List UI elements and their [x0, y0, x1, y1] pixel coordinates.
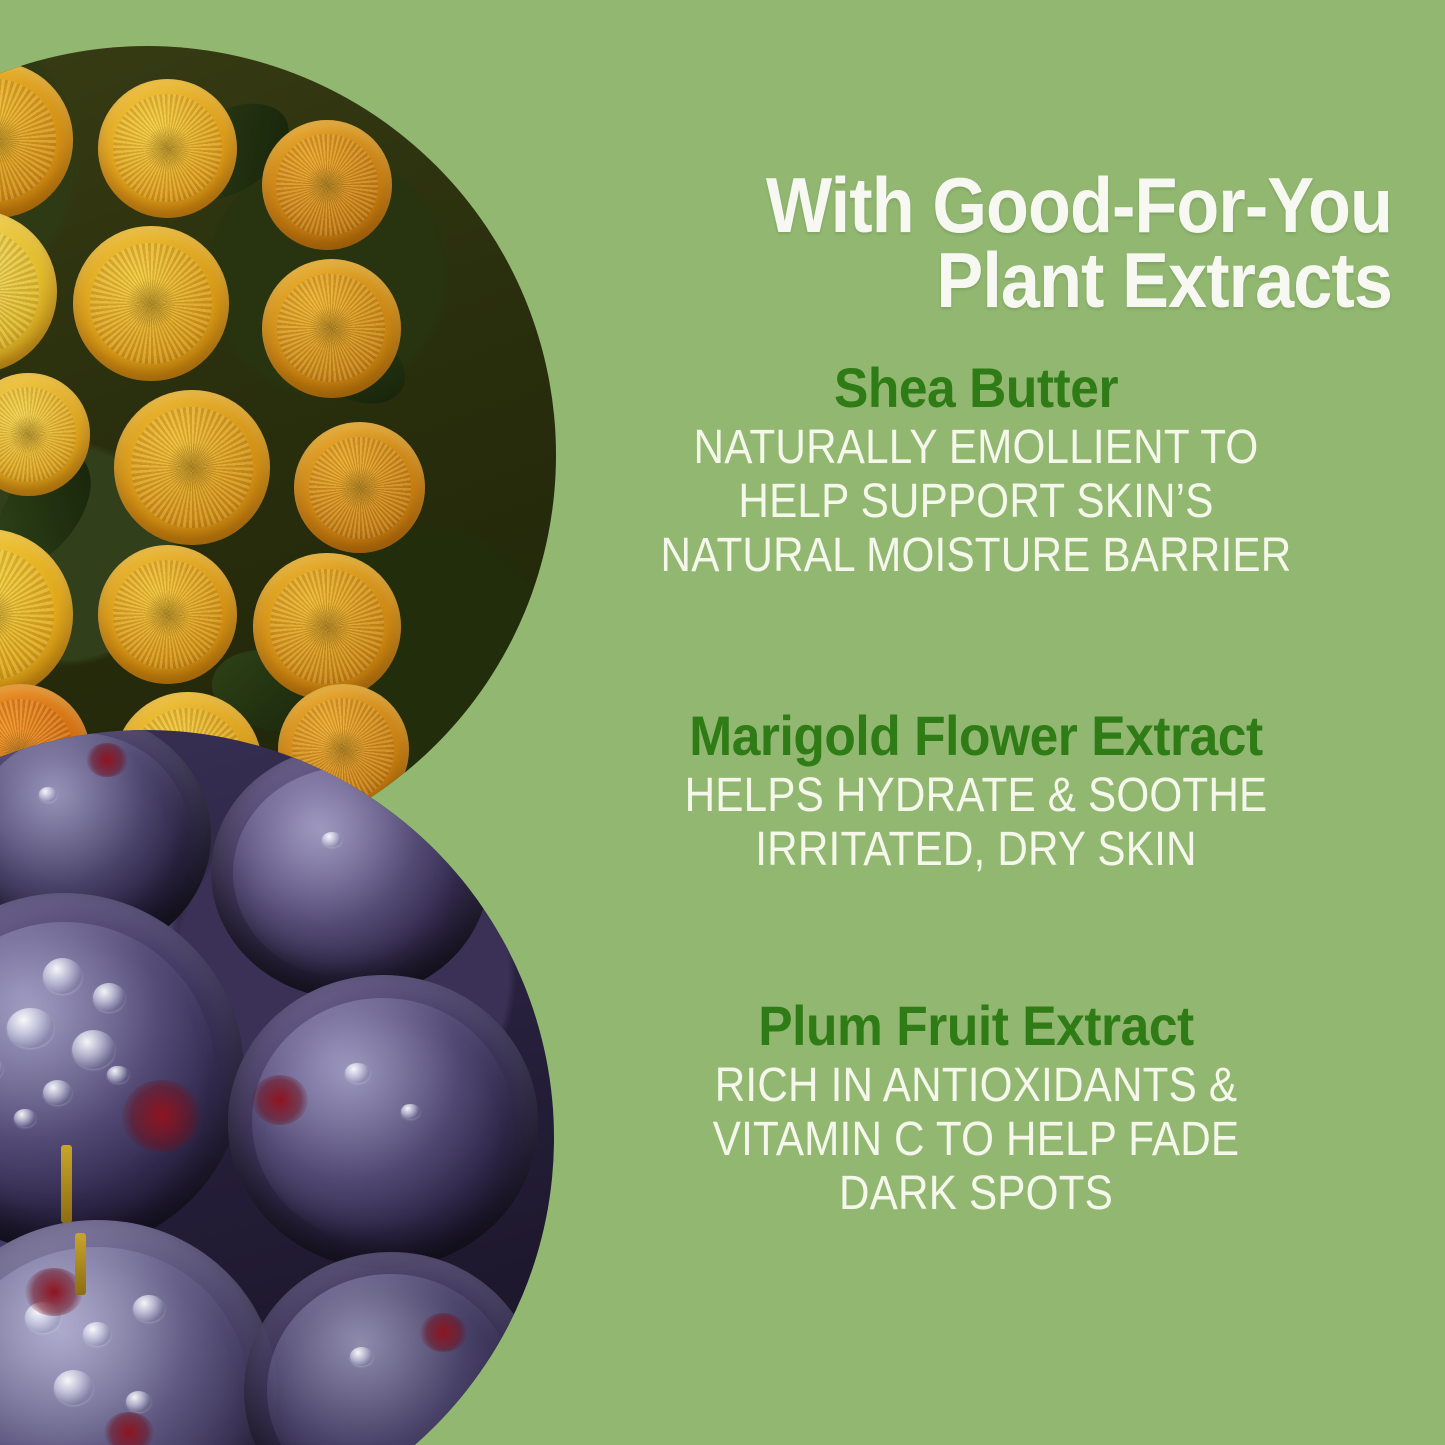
- ingredient-name: Marigold Flower Extract: [593, 706, 1358, 765]
- headline-line-1: With Good-For-You: [643, 168, 1392, 243]
- ingredient-text-column: With Good-For-You Plant Extracts Shea Bu…: [560, 0, 1392, 1445]
- plum-photo-content: [0, 730, 554, 1445]
- ingredient-description-line: HELP SUPPORT SKIN’S: [610, 475, 1342, 529]
- ingredient-description-line: IRRITATED, DRY SKIN: [610, 823, 1342, 877]
- ingredient-description: NATURALLY EMOLLIENT TO HELP SUPPORT SKIN…: [610, 421, 1342, 582]
- ingredient-description: RICH IN ANTIOXIDANTS & VITAMIN C TO HELP…: [610, 1059, 1342, 1220]
- ingredient-description-line: NATURAL MOISTURE BARRIER: [610, 529, 1342, 583]
- ingredient-description-line: DARK SPOTS: [610, 1167, 1342, 1221]
- ingredient-description-line: NATURALLY EMOLLIENT TO: [610, 421, 1342, 475]
- page-title: With Good-For-You Plant Extracts: [643, 168, 1392, 318]
- ingredient-description-line: VITAMIN C TO HELP FADE: [610, 1113, 1342, 1167]
- ingredient-block-shea-butter: Shea Butter NATURALLY EMOLLIENT TO HELP …: [560, 358, 1392, 583]
- plum-fruit-photo: [0, 730, 554, 1445]
- ingredient-block-plum-fruit-extract: Plum Fruit Extract RICH IN ANTIOXIDANTS …: [560, 996, 1392, 1221]
- ingredient-name: Plum Fruit Extract: [593, 996, 1358, 1055]
- ingredient-description-line: RICH IN ANTIOXIDANTS &: [610, 1059, 1342, 1113]
- ingredient-description: HELPS HYDRATE & SOOTHE IRRITATED, DRY SK…: [610, 769, 1342, 877]
- ingredient-block-marigold-flower-extract: Marigold Flower Extract HELPS HYDRATE & …: [560, 706, 1392, 877]
- infographic-panel: With Good-For-You Plant Extracts Shea Bu…: [0, 0, 1445, 1445]
- ingredient-name: Shea Butter: [593, 358, 1358, 417]
- headline-line-2: Plant Extracts: [643, 243, 1392, 318]
- ingredient-description-line: HELPS HYDRATE & SOOTHE: [610, 769, 1342, 823]
